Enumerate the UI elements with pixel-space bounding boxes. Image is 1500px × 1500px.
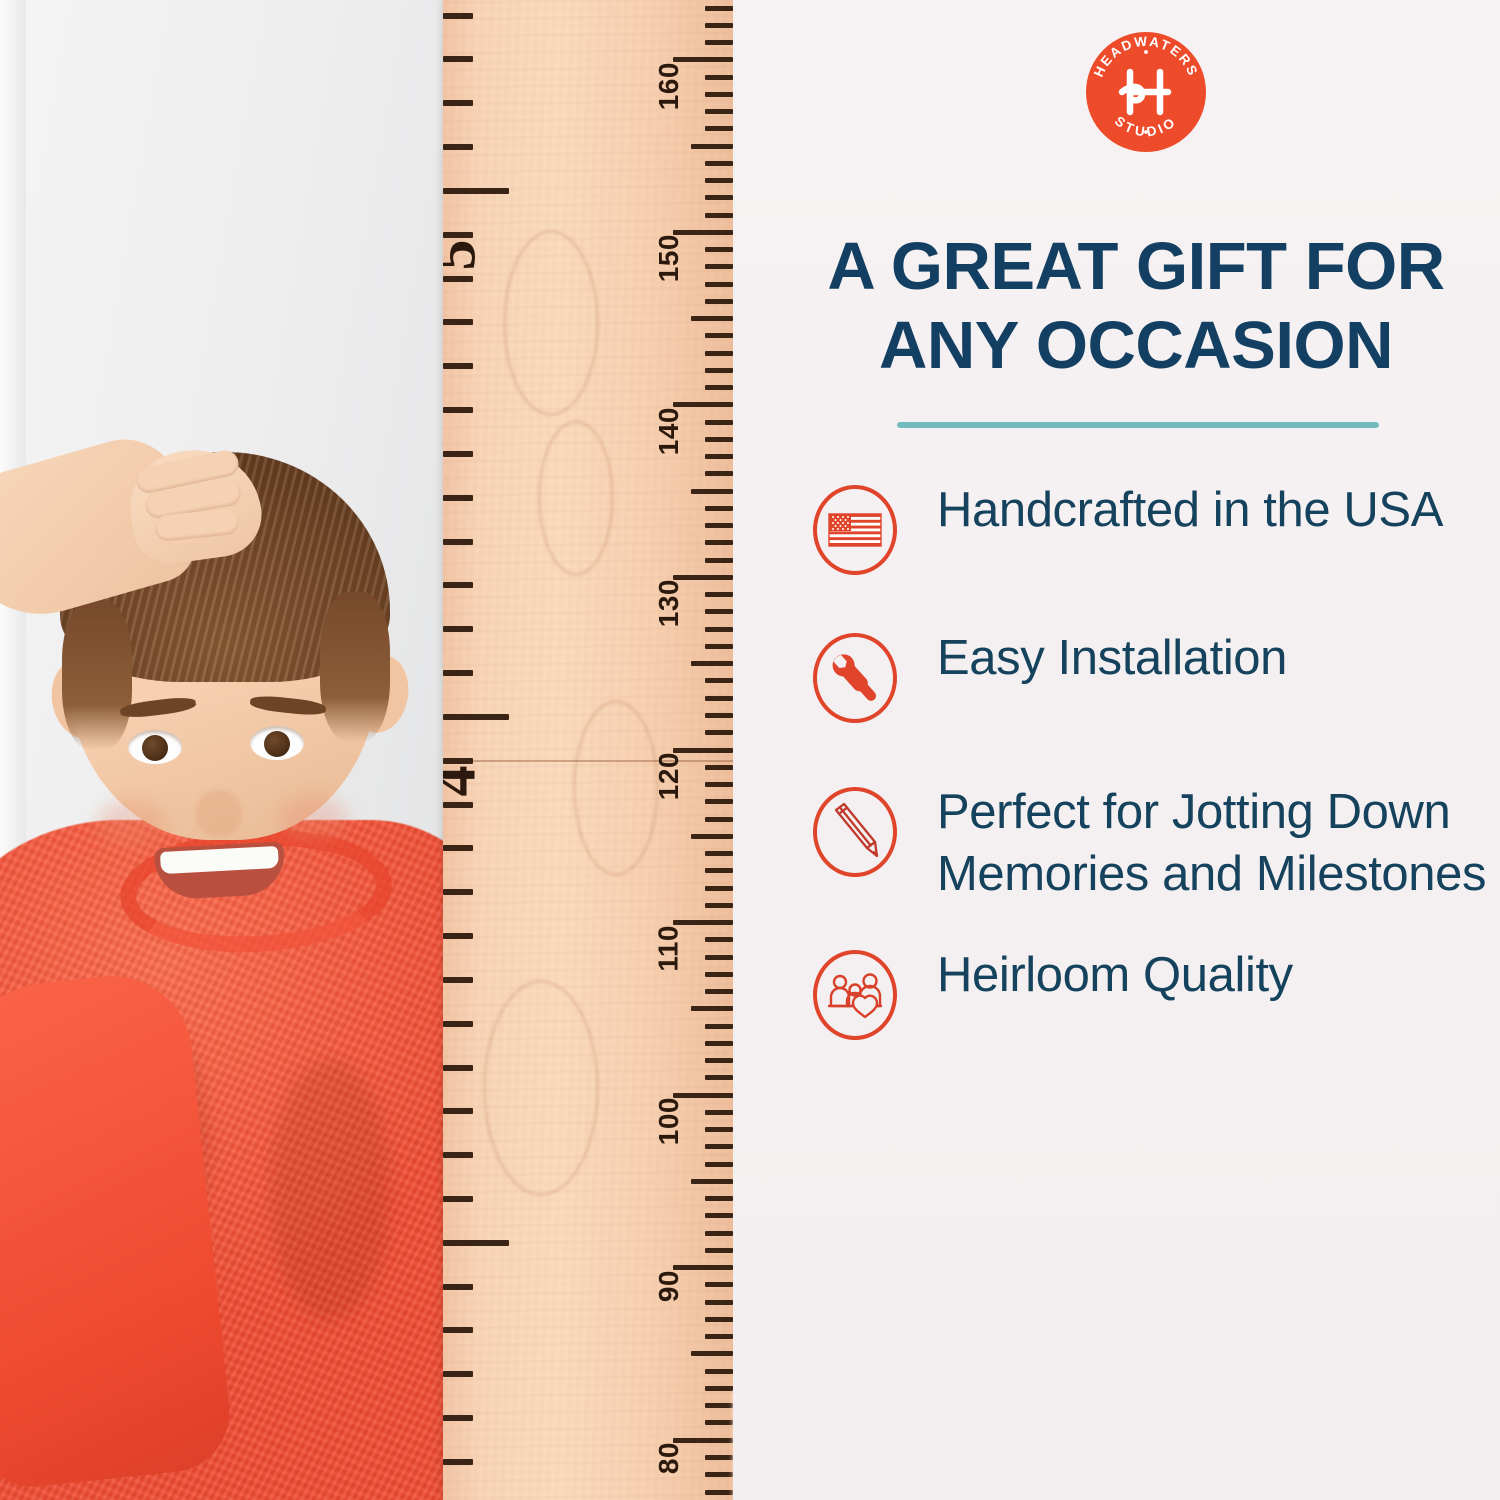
- feature-label-installation: Easy Installation: [937, 628, 1489, 690]
- wood-knot: [483, 980, 599, 1196]
- ruler-tick-minor: [705, 799, 733, 804]
- marketing-panel: HEADWATERS STUDIO A GREAT GIFT FOR ANY: [733, 0, 1500, 1500]
- ruler-cm-label: 110: [653, 925, 685, 972]
- ruler-tick-minor: [705, 937, 733, 942]
- ruler-tick-minor: [705, 1127, 733, 1132]
- ruler-cm-label: 150: [653, 234, 685, 282]
- feature-item-installation: Easy Installation: [809, 628, 1489, 724]
- ruler-cm-label: 100: [653, 1097, 685, 1145]
- ruler-tick-minor: [705, 1213, 733, 1218]
- ruler-tick-minor: [705, 644, 733, 649]
- ruler-inch-tick: [443, 100, 473, 106]
- ruler-tick-minor: [705, 1420, 733, 1425]
- ruler-tick-minor: [705, 264, 733, 269]
- ruler-inch-tick: [443, 363, 473, 369]
- ruler-inch-tick: [443, 451, 473, 457]
- ruler-tick-minor: [691, 661, 733, 666]
- ruler-tick-minor: [705, 678, 733, 683]
- ruler-inch-tick: [443, 276, 473, 282]
- ruler-tick-minor: [705, 1248, 733, 1253]
- wooden-growth-chart-ruler: 1601501401301201101009080 54: [443, 0, 733, 1500]
- ruler-inch-tick: [443, 319, 473, 325]
- ruler-tick-minor: [705, 1455, 733, 1460]
- ruler-tick-minor: [705, 1144, 733, 1149]
- board-seam: [443, 760, 733, 762]
- ruler-inch-tick: [443, 933, 473, 939]
- title-divider: [897, 422, 1379, 428]
- feature-label-handcrafted: Handcrafted in the USA: [937, 480, 1489, 542]
- shirt-fold: [270, 1060, 390, 1320]
- ruler-inch-tick: [443, 1108, 473, 1114]
- wood-knot: [503, 230, 599, 416]
- ruler-cm-label: 80: [653, 1442, 685, 1474]
- ruler-inch-tick: [443, 845, 473, 851]
- ruler-tick-minor: [705, 75, 733, 80]
- ruler-tick-minor: [691, 1179, 733, 1184]
- ruler-tick-minor: [705, 851, 733, 856]
- ruler-tick-minor: [691, 489, 733, 494]
- child-eye-right: [250, 726, 304, 760]
- ruler-tick-minor: [705, 385, 733, 390]
- headline-line-1: A GREAT GIFT FOR: [827, 229, 1444, 304]
- wood-knot: [538, 420, 614, 576]
- ruler-tick-minor: [705, 420, 733, 425]
- ruler-tick-minor: [705, 765, 733, 770]
- ruler-tick-minor: [705, 903, 733, 908]
- product-feature-image: 1601501401301201101009080 54 HEADWATERS …: [0, 0, 1500, 1500]
- ruler-foot-label: 4: [443, 765, 491, 796]
- ruler-tick-minor: [705, 109, 733, 114]
- ruler-tick-minor: [705, 1196, 733, 1201]
- child-cheek-right: [278, 795, 348, 841]
- ruler-cm-label: 130: [653, 579, 685, 627]
- wood-knot: [573, 700, 659, 876]
- ruler-foot-label: 5: [443, 239, 491, 270]
- wrench-icon: [809, 632, 901, 724]
- ruler-tick-minor: [705, 299, 733, 304]
- ruler-tick-minor: [705, 609, 733, 614]
- ruler-inch-tick: [443, 539, 473, 545]
- child-cheek-left: [96, 800, 166, 846]
- feature-label-jotting: Perfect for Jotting Down Memories and Mi…: [937, 782, 1489, 905]
- ruler-tick-minor: [705, 1162, 733, 1167]
- ruler-inch-tick: [443, 407, 473, 413]
- ruler-tick-minor: [705, 1058, 733, 1063]
- ruler-inch-tick: [443, 495, 473, 501]
- ruler-inch-tick: [443, 626, 473, 632]
- ruler-tick-minor: [705, 6, 733, 11]
- ruler-tick-minor: [705, 1403, 733, 1408]
- ruler-tick-minor: [705, 868, 733, 873]
- ruler-tick-minor: [705, 1490, 733, 1495]
- ruler-tick-minor: [705, 213, 733, 218]
- feature-list: Handcrafted in the USA Easy Installation: [809, 480, 1489, 1077]
- ruler-cm-label: 120: [653, 752, 685, 800]
- feature-item-handcrafted: Handcrafted in the USA: [809, 480, 1489, 576]
- ruler-tick-minor: [705, 1282, 733, 1287]
- product-lifestyle-photo: [0, 0, 450, 1500]
- ruler-tick-minor: [705, 627, 733, 632]
- ruler-tick-minor: [705, 1110, 733, 1115]
- ruler-foot-tick: [443, 188, 509, 194]
- ruler-tick-minor: [705, 1024, 733, 1029]
- ruler-tick-minor: [705, 437, 733, 442]
- ruler-tick-minor: [705, 23, 733, 28]
- ruler-inch-tick: [443, 144, 473, 150]
- feature-item-heirloom: Heirloom Quality: [809, 945, 1489, 1041]
- ruler-tick-minor: [705, 955, 733, 960]
- ruler-tick-minor: [705, 333, 733, 338]
- ruler-inch-tick: [443, 582, 473, 588]
- ruler-tick-minor: [705, 782, 733, 787]
- pencil-icon: [809, 786, 901, 878]
- ruler-inch-tick: [443, 1371, 473, 1377]
- ruler-inch-tick: [443, 56, 473, 62]
- ruler-tick-minor: [705, 1041, 733, 1046]
- ruler-inch-tick: [443, 1065, 473, 1071]
- ruler-inch-tick: [443, 670, 473, 676]
- ruler-inch-tick: [443, 802, 473, 808]
- ruler-inch-tick: [443, 889, 473, 895]
- usa-flag-icon: [809, 484, 901, 576]
- ruler-inch-tick: [443, 758, 473, 764]
- headline-line-2: ANY OCCASION: [791, 306, 1481, 385]
- ruler-tick-minor: [705, 730, 733, 735]
- ruler-tick-minor: [705, 1334, 733, 1339]
- ruler-cm-label: 160: [653, 62, 685, 110]
- ruler-tick-minor: [691, 316, 733, 321]
- ruler-foot-tick: [443, 714, 509, 720]
- headwaters-studio-logo[interactable]: HEADWATERS STUDIO: [1082, 28, 1210, 156]
- child-hair-side-right: [320, 592, 390, 742]
- ruler-tick-minor: [705, 1369, 733, 1374]
- ruler-tick-minor: [705, 368, 733, 373]
- ruler-tick-minor: [705, 713, 733, 718]
- ruler-tick-minor: [705, 1386, 733, 1391]
- ruler-tick-minor: [705, 1231, 733, 1236]
- ruler-tick-minor: [705, 92, 733, 97]
- ruler-tick-minor: [705, 1075, 733, 1080]
- ruler-tick-minor: [705, 1472, 733, 1477]
- ruler-tick-minor: [705, 40, 733, 45]
- ruler-inch-tick: [443, 13, 473, 19]
- ruler-inch-tick: [443, 1415, 473, 1421]
- page-title: A GREAT GIFT FOR ANY OCCASION: [791, 227, 1481, 385]
- ruler-inch-tick: [443, 232, 473, 238]
- ruler-tick-minor: [705, 351, 733, 356]
- ruler-tick-minor: [705, 454, 733, 459]
- ruler-tick-minor: [705, 195, 733, 200]
- ruler-inch-tick: [443, 977, 473, 983]
- ruler-tick-minor: [691, 144, 733, 149]
- child-hair-side-left: [62, 600, 132, 750]
- ruler-tick-minor: [691, 1351, 733, 1356]
- child-eye-left: [128, 730, 182, 764]
- ruler-tick-minor: [705, 592, 733, 597]
- ruler-tick-minor: [705, 161, 733, 166]
- ruler-tick-minor: [705, 471, 733, 476]
- ruler-tick-minor: [705, 1300, 733, 1305]
- ruler-tick-minor: [705, 282, 733, 287]
- family-heart-icon: [809, 949, 901, 1041]
- ruler-inch-tick: [443, 1152, 473, 1158]
- ruler-tick-minor: [705, 506, 733, 511]
- ruler-tick-minor: [705, 817, 733, 822]
- feature-item-jotting: Perfect for Jotting Down Memories and Mi…: [809, 782, 1489, 905]
- ruler-tick-minor: [705, 989, 733, 994]
- ruler-tick-minor: [705, 247, 733, 252]
- feature-label-heirloom: Heirloom Quality: [937, 945, 1489, 1007]
- ruler-cm-label: 90: [653, 1270, 685, 1302]
- ruler-inch-tick: [443, 1284, 473, 1290]
- ruler-tick-minor: [691, 834, 733, 839]
- ruler-tick-minor: [705, 126, 733, 131]
- ruler-tick-minor: [705, 523, 733, 528]
- ruler-foot-tick: [443, 1240, 509, 1246]
- ruler-tick-minor: [705, 696, 733, 701]
- ruler-inch-tick: [443, 1327, 473, 1333]
- ruler-tick-minor: [705, 178, 733, 183]
- ruler-tick-minor: [705, 972, 733, 977]
- child-nose: [196, 790, 242, 836]
- ruler-inch-tick: [443, 1021, 473, 1027]
- ruler-inch-tick: [443, 1196, 473, 1202]
- ruler-tick-minor: [705, 1317, 733, 1322]
- ruler-cm-label: 140: [653, 407, 685, 455]
- ruler-tick-minor: [705, 540, 733, 545]
- ruler-tick-minor: [705, 558, 733, 563]
- ruler-tick-minor: [705, 886, 733, 891]
- ruler-inch-tick: [443, 1459, 473, 1465]
- ruler-tick-minor: [691, 1006, 733, 1011]
